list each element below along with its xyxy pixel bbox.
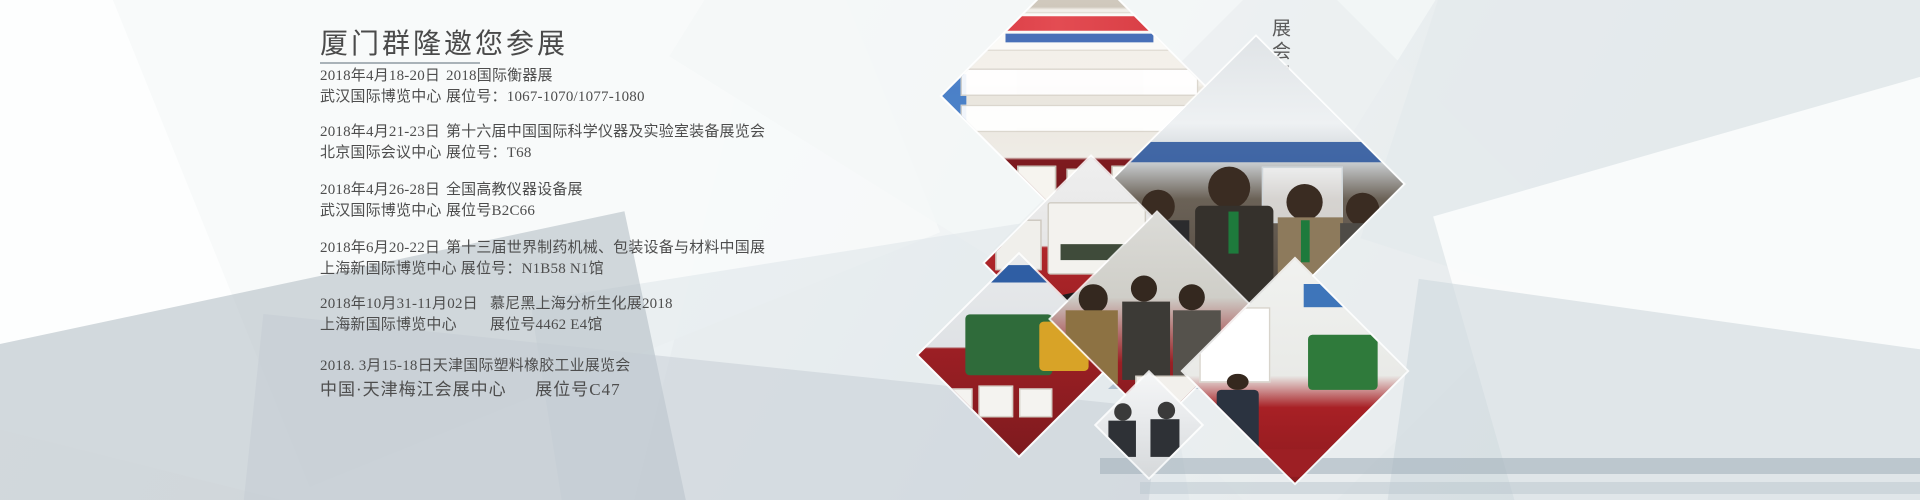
entry-date: 2018年4月18-20日: [320, 66, 442, 87]
person-body: [1108, 421, 1136, 457]
entry-booth: 展位号B2C66: [446, 201, 535, 222]
person-body: [1217, 389, 1258, 449]
entry-venue: 武汉国际博览中心: [320, 201, 442, 222]
entry-line-bottom: 武汉国际博览中心 展位号B2C66: [320, 201, 583, 222]
exhibition-entry: 2018年10月31-11月02日 慕尼黑上海分析生化展2018 上海新国际博览…: [320, 294, 673, 336]
invitation-text-column: 厦门群隆邀您参展 2018年4月18-20日 2018国际衡器展 武汉国际博览中…: [0, 0, 1000, 500]
badge-lanyard: [1229, 211, 1238, 253]
booth-display-shelf: [961, 68, 1198, 96]
person-head: [1227, 374, 1248, 391]
person-head: [1158, 401, 1175, 418]
entry-line-top: 2018年6月20-22日 第十三届世界制药机械、包装设备与材料中国展: [320, 238, 765, 259]
entry-line-top: 2018年4月26-28日 全国高教仪器设备展: [320, 180, 583, 201]
entry-date: 2018. 3月15-18日天津国际塑料橡胶工业展览会: [320, 358, 630, 374]
entry-expo-name: 第十三届世界制药机械、包装设备与材料中国展: [446, 238, 765, 259]
booth-display-shelf: [961, 104, 1198, 132]
title-underline: [320, 62, 480, 64]
entry-date: 2018年4月21-23日: [320, 122, 442, 143]
person-body: [1151, 419, 1179, 458]
entry-booth: 展位号4462 E4馆: [490, 315, 603, 336]
person-head: [1208, 166, 1250, 208]
person-head: [1115, 404, 1132, 421]
entry-booth: 展位号C47: [535, 378, 620, 401]
entry-venue: 北京国际会议中心: [320, 143, 442, 164]
entry-expo-name: 第十六届中国国际科学仪器及实验室装备展览会: [446, 122, 765, 143]
entry-line-bottom: 武汉国际博览中心 展位号：1067-1070/1077-1080: [320, 87, 645, 108]
machine-unit: [1309, 334, 1378, 389]
person-body: [1122, 302, 1170, 380]
exhibition-entry: 2018年4月26-28日 全国高教仪器设备展 武汉国际博览中心 展位号B2C6…: [320, 180, 583, 222]
entry-line-bottom: 上海新国际博览中心 展位号4462 E4馆: [320, 315, 673, 336]
badge-lanyard: [1301, 220, 1310, 262]
booth-banner-headline-bar: [967, 17, 1192, 31]
person-head: [1346, 193, 1379, 226]
entry-booth: 展位号：N1B58 N1馆: [461, 259, 604, 280]
entry-date: 2018年6月20-22日: [320, 238, 442, 259]
entry-date: 2018年10月31-11月02日: [320, 294, 486, 315]
photo-collage: [1020, 0, 1540, 500]
entry-line-top: 2018年10月31-11月02日 慕尼黑上海分析生化展2018: [320, 294, 673, 315]
entry-expo-name: 慕尼黑上海分析生化展2018: [490, 294, 673, 315]
entry-expo-name: 2018国际衡器展: [446, 66, 553, 87]
entry-venue: 武汉国际博览中心: [320, 87, 442, 108]
exhibition-entry: 2018年6月20-22日 第十三届世界制药机械、包装设备与材料中国展 上海新国…: [320, 238, 765, 280]
page-title: 厦门群隆邀您参展: [320, 22, 568, 62]
person-head: [1079, 284, 1107, 312]
entry-line-top: 2018年4月18-20日 2018国际衡器展: [320, 66, 645, 87]
entry-booth: 展位号：1067-1070/1077-1080: [446, 87, 645, 108]
entry-venue: 上海新国际博览中心: [320, 315, 486, 336]
person-head: [1179, 284, 1205, 310]
instrument-unit: [1019, 388, 1053, 418]
exhibition-entry: 2018. 3月15-18日天津国际塑料橡胶工业展览会 中国·天津梅江会展中心 …: [320, 355, 630, 401]
exhibition-entry: 2018年4月18-20日 2018国际衡器展 武汉国际博览中心 展位号：106…: [320, 66, 645, 108]
entry-date: 2018年4月26-28日: [320, 180, 442, 201]
entry-line-top: 2018. 3月15-18日天津国际塑料橡胶工业展览会: [320, 355, 630, 378]
entry-venue: 上海新国际博览中心: [320, 259, 457, 280]
booth-sign: [1304, 284, 1386, 307]
exhibition-invitation-banner: 厦门群隆邀您参展 2018年4月18-20日 2018国际衡器展 武汉国际博览中…: [0, 0, 1920, 500]
booth-banner-company-bar: [1006, 34, 1153, 43]
display-table: [1194, 449, 1391, 476]
entry-booth: 展位号：T68: [446, 143, 532, 164]
entry-expo-name: 全国高教仪器设备展: [446, 180, 583, 201]
person-head: [1131, 276, 1157, 302]
entry-line-top: 2018年4月21-23日 第十六届中国国际科学仪器及实验室装备展览会: [320, 122, 765, 143]
instrument-unit: [978, 386, 1014, 418]
exhibition-entry: 2018年4月21-23日 第十六届中国国际科学仪器及实验室装备展览会 北京国际…: [320, 122, 765, 164]
entry-line-bottom: 上海新国际博览中心 展位号：N1B58 N1馆: [320, 259, 765, 280]
hall-banner: [1109, 142, 1403, 163]
person-head: [1286, 184, 1322, 220]
entry-line-bottom: 中国·天津梅江会展中心 展位号C47: [320, 378, 630, 401]
entry-line-bottom: 北京国际会议中心 展位号：T68: [320, 143, 765, 164]
entry-venue: 中国·天津梅江会展中心: [320, 378, 530, 401]
